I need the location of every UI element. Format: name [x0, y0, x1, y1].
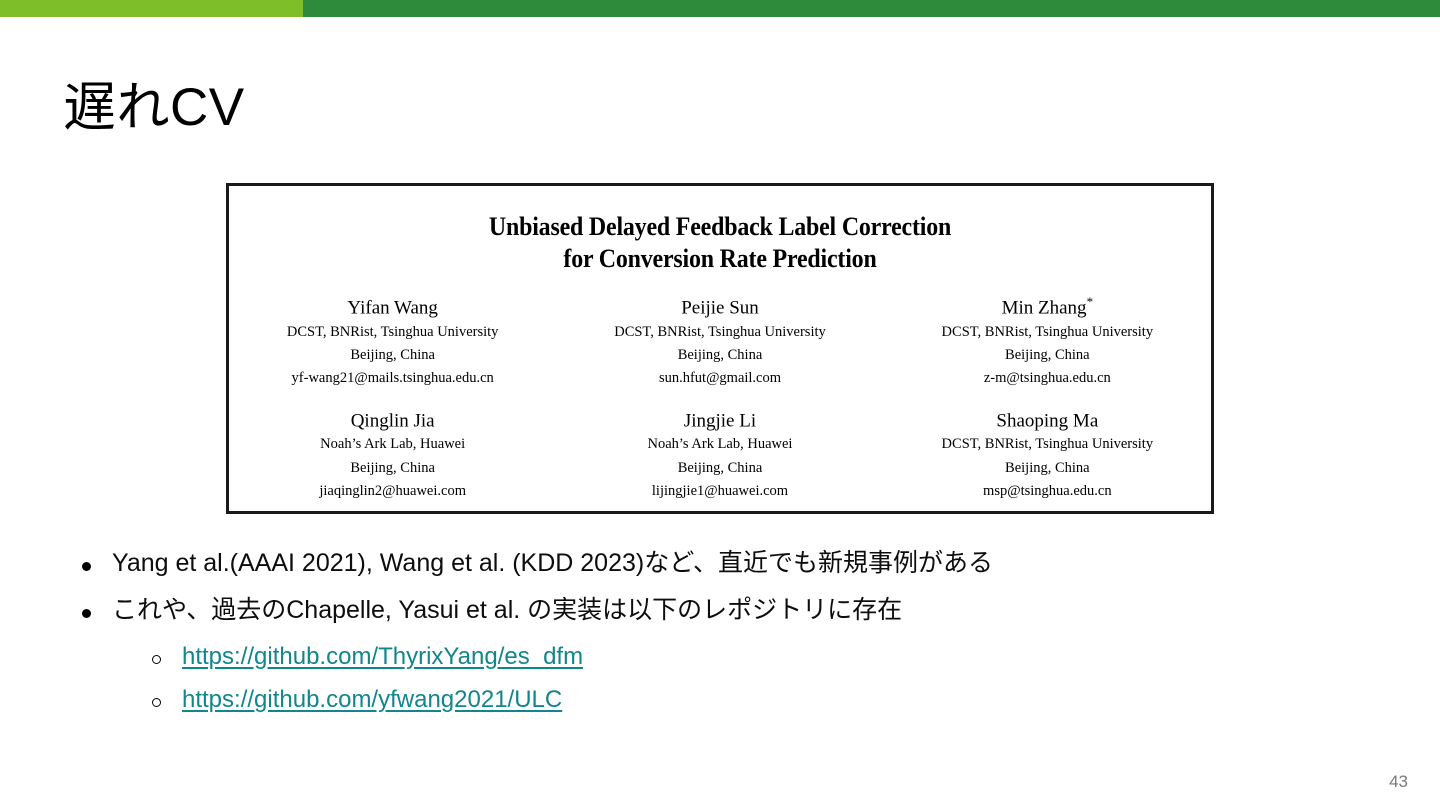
- paper-title: Unbiased Delayed Feedback Label Correcti…: [268, 211, 1171, 274]
- author-block: Min Zhang* DCST, BNRist, Tsinghua Univer…: [884, 294, 1211, 391]
- author-affiliation: Noah’s Ark Lab, Huawei: [560, 433, 879, 456]
- author-location: Beijing, China: [233, 344, 552, 367]
- author-name-text: Shaoping Ma: [996, 410, 1098, 431]
- author-name: Min Zhang*: [888, 294, 1207, 320]
- author-email: jiaqinglin2@huawei.com: [233, 480, 552, 503]
- author-email: msp@tsinghua.edu.cn: [888, 480, 1207, 503]
- author-email: sun.hfut@gmail.com: [560, 367, 879, 390]
- accent-bar-dark-segment: [303, 0, 1440, 17]
- accent-bar-light-segment: [0, 0, 303, 17]
- author-name: Shaoping Ma: [888, 407, 1207, 433]
- author-name-text: Yifan Wang: [347, 298, 437, 319]
- paper-authors-grid: Yifan Wang DCST, BNRist, Tsinghua Univer…: [229, 294, 1211, 503]
- author-block: Shaoping Ma DCST, BNRist, Tsinghua Unive…: [884, 407, 1211, 504]
- bullet-text: Yang et al.(AAAI 2021), Wang et al. (KDD…: [112, 545, 993, 581]
- author-email: z-m@tsinghua.edu.cn: [888, 367, 1207, 390]
- author-name-text: Peijie Sun: [681, 298, 759, 319]
- top-accent-bar: [0, 0, 1440, 17]
- author-name-text: Jingjie Li: [684, 410, 756, 431]
- list-item: Yang et al.(AAAI 2021), Wang et al. (KDD…: [64, 545, 1384, 581]
- bullet-marker-filled-icon: [64, 562, 112, 571]
- author-affiliation: Noah’s Ark Lab, Huawei: [233, 433, 552, 456]
- bullet-marker-hollow-icon: [134, 698, 182, 707]
- author-block: Yifan Wang DCST, BNRist, Tsinghua Univer…: [229, 294, 556, 391]
- paper-title-line-2: for Conversion Rate Prediction: [268, 243, 1171, 275]
- page-number: 43: [1389, 772, 1408, 792]
- author-location: Beijing, China: [888, 344, 1207, 367]
- author-affiliation: DCST, BNRist, Tsinghua University: [233, 321, 552, 344]
- author-block: Jingjie Li Noah’s Ark Lab, Huawei Beijin…: [556, 407, 883, 504]
- author-location: Beijing, China: [888, 457, 1207, 480]
- author-name: Jingjie Li: [560, 407, 879, 433]
- author-affiliation: DCST, BNRist, Tsinghua University: [560, 321, 879, 344]
- paper-title-line-1: Unbiased Delayed Feedback Label Correcti…: [268, 211, 1171, 243]
- repository-link-ulc[interactable]: https://github.com/yfwang2021/ULC: [182, 683, 562, 718]
- bullet-list: Yang et al.(AAAI 2021), Wang et al. (KDD…: [64, 545, 1384, 727]
- list-item: https://github.com/yfwang2021/ULC: [64, 683, 1384, 718]
- bullet-marker-hollow-icon: [134, 655, 182, 664]
- author-name: Yifan Wang: [233, 294, 552, 320]
- author-location: Beijing, China: [560, 457, 879, 480]
- page-title: 遅れCV: [63, 78, 245, 139]
- repository-link-es-dfm[interactable]: https://github.com/ThyrixYang/es_dfm: [182, 640, 583, 675]
- author-name-text: Qinglin Jia: [351, 410, 435, 431]
- author-name: Peijie Sun: [560, 294, 879, 320]
- bullet-marker-filled-icon: [64, 609, 112, 618]
- list-item: https://github.com/ThyrixYang/es_dfm: [64, 640, 1384, 675]
- author-affiliation: DCST, BNRist, Tsinghua University: [888, 321, 1207, 344]
- bullet-text: これや、過去のChapelle, Yasui et al. の実装は以下のレポジ…: [112, 592, 902, 628]
- author-location: Beijing, China: [560, 344, 879, 367]
- author-name: Qinglin Jia: [233, 407, 552, 433]
- author-affiliation: DCST, BNRist, Tsinghua University: [888, 433, 1207, 456]
- author-name-text: Min Zhang: [1002, 298, 1087, 319]
- author-block: Qinglin Jia Noah’s Ark Lab, Huawei Beiji…: [229, 407, 556, 504]
- author-corresponding-star: *: [1087, 294, 1094, 309]
- author-email: lijingjie1@huawei.com: [560, 480, 879, 503]
- paper-header-figure: Unbiased Delayed Feedback Label Correcti…: [226, 183, 1214, 514]
- author-block: Peijie Sun DCST, BNRist, Tsinghua Univer…: [556, 294, 883, 391]
- author-location: Beijing, China: [233, 457, 552, 480]
- author-email: yf-wang21@mails.tsinghua.edu.cn: [233, 367, 552, 390]
- list-item: これや、過去のChapelle, Yasui et al. の実装は以下のレポジ…: [64, 592, 1384, 628]
